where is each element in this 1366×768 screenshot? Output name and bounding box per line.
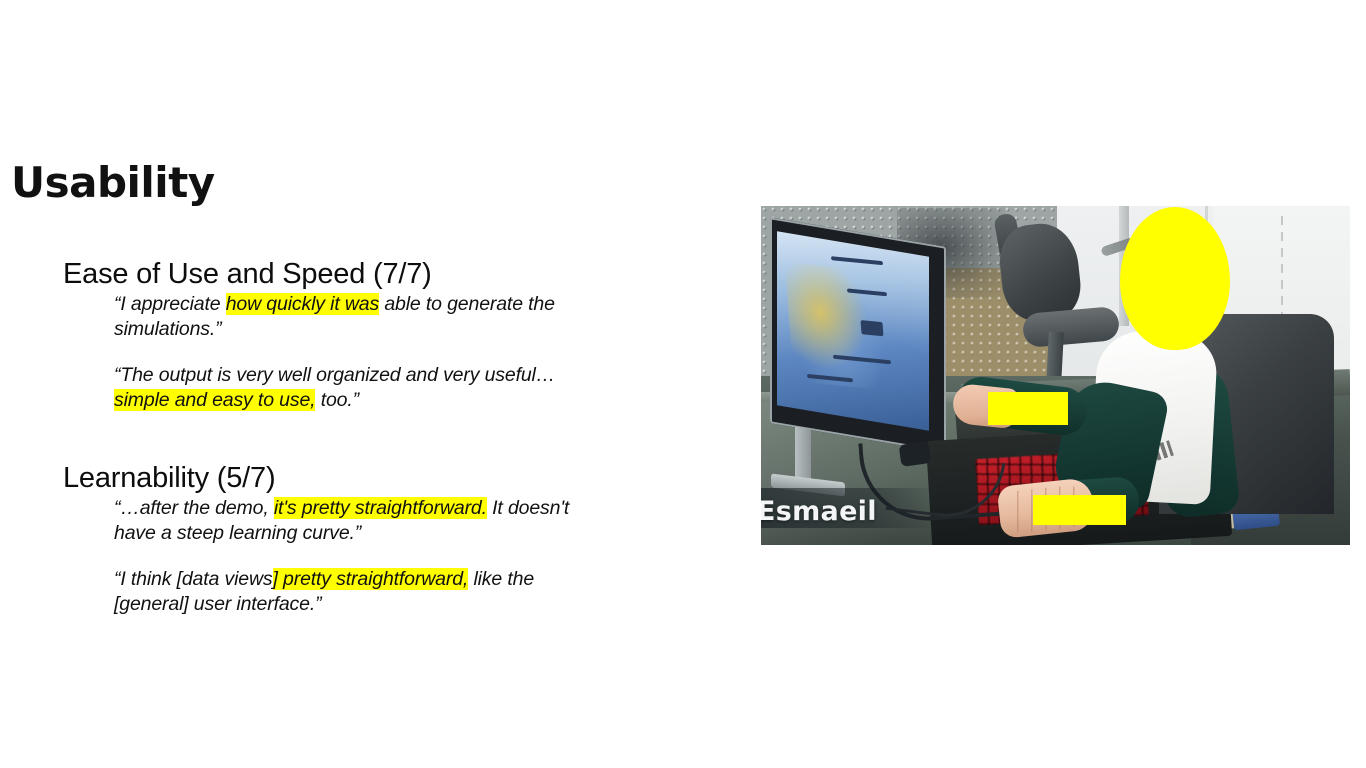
page-title: Usability [11, 162, 215, 204]
quote-part-highlighted: simple and easy to use, [114, 389, 315, 411]
slide-canvas: Usability Ease of Use and Speed (7/7) “I… [0, 0, 1366, 768]
screen-ui-line [831, 256, 883, 265]
section-ease-of-use: Ease of Use and Speed (7/7) “I appreciat… [63, 258, 663, 412]
quote-item: “I appreciate how quickly it was able to… [114, 292, 604, 341]
quote-part-highlighted: ] pretty straightforward, [273, 568, 469, 590]
section-heading: Learnability (5/7) [63, 462, 663, 494]
quote-item: “I think [data views] pretty straightfor… [114, 567, 604, 616]
participant-name-label: Esmaeil [761, 496, 877, 527]
section-learnability: Learnability (5/7) “…after the demo, it'… [63, 462, 663, 616]
quote-item: “…after the demo, it's pretty straightfo… [114, 496, 604, 545]
content-column: Ease of Use and Speed (7/7) “I appreciat… [63, 258, 663, 640]
screen-ui-block [861, 320, 884, 336]
quote-part-plain: too.” [315, 389, 359, 411]
quote-part-plain: “The output is very well organized and v… [114, 364, 555, 386]
quote-part-plain: “I appreciate [114, 293, 226, 315]
quote-part-plain: “…after the demo, [114, 497, 274, 519]
quote-part-highlighted: it's pretty straightforward. [274, 497, 487, 519]
hand-redaction-lower [1033, 495, 1126, 525]
quote-item: “The output is very well organized and v… [114, 363, 604, 412]
face-redaction [1120, 207, 1230, 350]
section-heading: Ease of Use and Speed (7/7) [63, 258, 663, 290]
cable-hub [899, 441, 932, 467]
quote-part-plain: “I think [data views [114, 568, 273, 590]
quote-part-highlighted: how quickly it was [226, 293, 379, 315]
monitor-screen [777, 231, 929, 430]
section-spacer [63, 436, 663, 462]
participant-photo: Esmaeil [761, 206, 1350, 545]
hand-redaction-upper [988, 392, 1068, 425]
